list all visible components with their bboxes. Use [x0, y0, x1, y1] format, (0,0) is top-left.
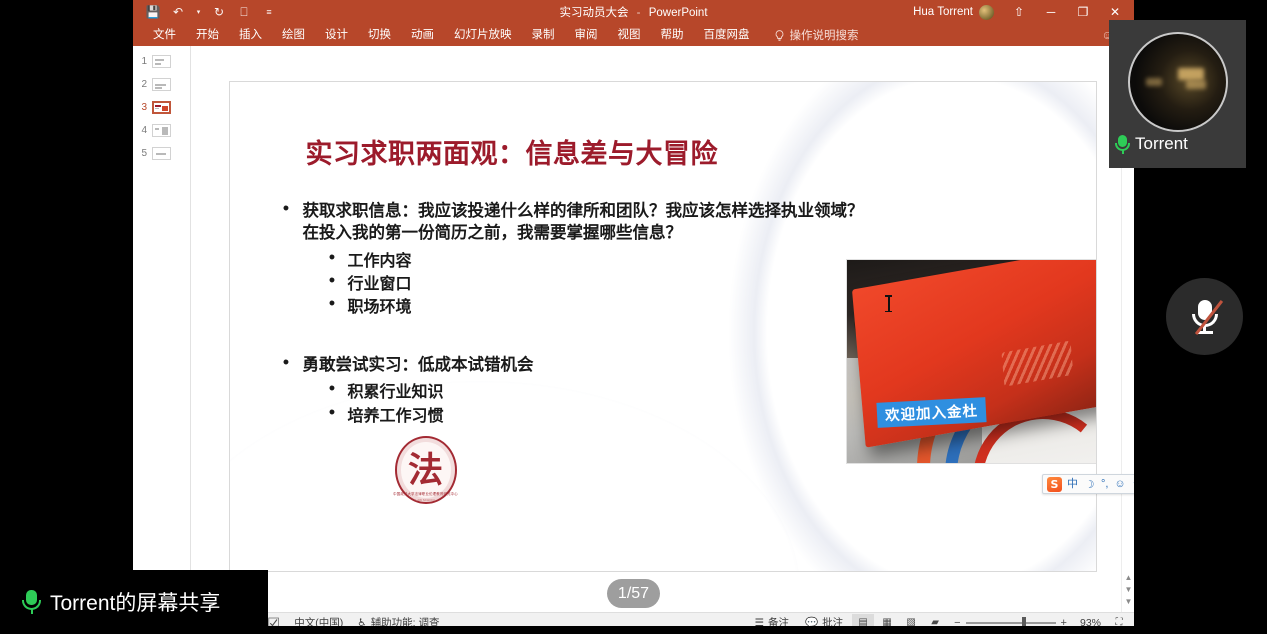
thumbnail-number: 5	[139, 148, 147, 159]
customize-qat-icon[interactable]: ≡	[261, 4, 277, 20]
ime-moon-icon[interactable]: ☽	[1083, 478, 1096, 491]
tab-slideshow[interactable]: 幻灯片放映	[444, 24, 522, 46]
start-presentation-icon[interactable]: ⎕	[236, 4, 252, 20]
bullet-marker: •	[328, 272, 337, 295]
title-bar-right: Hua Torrent ⇧ ─ ❐ ✕	[913, 0, 1134, 24]
bullet-marker: •	[328, 295, 337, 318]
thumbnail-preview	[152, 101, 171, 114]
tab-insert[interactable]: 插入	[229, 24, 272, 46]
seal-character: 法	[385, 432, 467, 508]
thumbnail-preview	[152, 55, 171, 68]
seal-text-bottom: LAW SCHOOL	[385, 498, 467, 502]
scroll-down-icon[interactable]: ▼	[1124, 597, 1133, 606]
lightbulb-icon	[774, 30, 785, 41]
bullet-marker: •	[328, 380, 337, 403]
microphone-icon	[1115, 135, 1130, 154]
sub-list-2: • 积累行业知识 • 培养工作习惯	[282, 380, 872, 426]
slide-thumbnail-pane[interactable]: 1 2 3	[133, 46, 191, 612]
thumbnail-preview	[152, 147, 171, 160]
thumbnail-number: 2	[139, 79, 147, 90]
slide-thumbnail-3[interactable]: 3	[133, 96, 190, 119]
editor-content: 1 2 3	[133, 46, 1134, 612]
screen-root: 💾 ↶ ▾ ↻ ⎕ ≡ 实习动员大会 - PowerPoint Hua Torr…	[0, 0, 1267, 634]
law-seal-logo[interactable]: 法 中国政法大学法律职业伦理教育研究中心 LAW SCHOOL	[385, 432, 467, 508]
ime-punctuation-icon[interactable]: °,	[1101, 479, 1108, 490]
sub-bullet-text: 积累行业知识	[347, 380, 443, 403]
sogou-ime-bar[interactable]: S 中 ☽ °, ☺ ⚒ T 简 ☰	[1042, 474, 1134, 494]
slide-thumbnail-1[interactable]: 1	[133, 50, 190, 73]
tab-draw[interactable]: 绘图	[272, 24, 315, 46]
tab-animations[interactable]: 动画	[401, 24, 444, 46]
paragraph-gap	[282, 318, 872, 354]
microphone-muted-icon	[1192, 300, 1218, 334]
zoom-track[interactable]	[966, 622, 1056, 624]
undo-icon[interactable]: ↶	[170, 4, 186, 20]
ribbon-display-options-icon[interactable]: ⇧	[1004, 0, 1034, 24]
tab-help[interactable]: 帮助	[651, 24, 694, 46]
save-icon[interactable]: 💾	[145, 4, 161, 20]
bullet-level1-2: • 勇敢尝试实习：低成本试错机会	[282, 354, 872, 376]
tab-view[interactable]: 视图	[608, 24, 651, 46]
sub-bullet-text: 行业窗口	[347, 272, 411, 295]
sub-bullet: • 培养工作习惯	[328, 404, 872, 427]
sub-bullet-text: 工作内容	[347, 249, 411, 272]
bottom-black-strip	[0, 626, 1267, 634]
tell-me-box[interactable]: 操作说明搜索	[760, 27, 859, 43]
camera-avatar	[1128, 32, 1228, 132]
bullet-marker: •	[282, 200, 291, 245]
bullet-marker: •	[282, 354, 291, 376]
ime-emoji-icon[interactable]: ☺	[1113, 478, 1126, 491]
slide-thumbnail-5[interactable]: 5	[133, 142, 190, 165]
page-indicator: 1/57	[607, 579, 660, 608]
sub-bullet-text: 职场环境	[347, 295, 411, 318]
ime-mode-chinese[interactable]: 中	[1067, 479, 1078, 490]
previous-slide-icon[interactable]: ▲	[1124, 573, 1133, 582]
bullet-marker: •	[328, 404, 337, 427]
document-name: 实习动员大会	[559, 7, 628, 19]
chevron-down-icon[interactable]: ▾	[195, 4, 202, 20]
tab-file[interactable]: 文件	[143, 24, 186, 46]
share-banner-label: Torrent的屏幕共享	[50, 587, 220, 617]
sub-bullet: • 行业窗口	[328, 272, 872, 295]
restore-icon[interactable]: ❐	[1068, 0, 1098, 24]
bullet-text: 获取求职信息：我应该投递什么样的律所和团队？我应该怎样选择执业领域？在投入我的第…	[302, 200, 871, 245]
photo-book-embossing	[1001, 341, 1073, 387]
thumbnail-preview	[152, 78, 171, 91]
bullet-marker: •	[328, 249, 337, 272]
sub-bullet: • 积累行业知识	[328, 380, 872, 403]
mute-microphone-button[interactable]	[1166, 278, 1243, 355]
ime-logo-icon[interactable]: S	[1047, 477, 1062, 492]
camera-label: Torrent	[1115, 134, 1188, 154]
left-black-gutter	[0, 0, 133, 570]
tell-me-label: 操作说明搜索	[790, 27, 859, 43]
tab-baidu-netdisk[interactable]: 百度网盘	[694, 24, 760, 46]
camera-tile[interactable]: Torrent	[1109, 20, 1246, 168]
bullet-text: 勇敢尝试实习：低成本试错机会	[302, 354, 533, 376]
text-cursor-icon	[885, 295, 892, 312]
powerpoint-window: 💾 ↶ ▾ ↻ ⎕ ≡ 实习动员大会 - PowerPoint Hua Torr…	[133, 0, 1134, 634]
thumbnail-number: 4	[139, 125, 147, 136]
sub-list-1: • 工作内容 • 行业窗口 • 职场环境	[282, 249, 872, 319]
thumbnail-number: 3	[139, 102, 147, 113]
ime-toolbox-icon[interactable]: ⚒	[1131, 478, 1134, 491]
bullet-level1-1: • 获取求职信息：我应该投递什么样的律所和团队？我应该怎样选择执业领域？在投入我…	[282, 200, 872, 245]
avatar[interactable]	[979, 5, 994, 20]
slide-image-notebook[interactable]: 欢迎加入金杜	[847, 260, 1096, 463]
tab-transitions[interactable]: 切换	[358, 24, 401, 46]
slide-thumbnail-4[interactable]: 4	[133, 119, 190, 142]
ribbon-tabs: 文件 开始 插入 绘图 设计 切换 动画 幻灯片放映 录制 审阅 视图 帮助 百…	[133, 24, 1134, 46]
app-name: PowerPoint	[649, 7, 708, 19]
slide-body[interactable]: • 获取求职信息：我应该投递什么样的律所和团队？我应该怎样选择执业领域？在投入我…	[282, 200, 872, 427]
redo-icon[interactable]: ↻	[211, 4, 227, 20]
account-name[interactable]: Hua Torrent	[913, 6, 977, 18]
seal-text-top: 中国政法大学法律职业伦理教育研究中心	[385, 491, 467, 496]
tab-home[interactable]: 开始	[186, 24, 229, 46]
sub-bullet: • 工作内容	[328, 249, 872, 272]
title-bar: 💾 ↶ ▾ ↻ ⎕ ≡ 实习动员大会 - PowerPoint Hua Torr…	[133, 0, 1134, 24]
sub-bullet: • 职场环境	[328, 295, 872, 318]
tab-record[interactable]: 录制	[522, 24, 565, 46]
sub-bullet-text: 培养工作习惯	[347, 404, 443, 427]
tab-review[interactable]: 审阅	[565, 24, 608, 46]
quick-access-toolbar: 💾 ↶ ▾ ↻ ⎕ ≡	[133, 4, 277, 20]
slide-title[interactable]: 实习求职两面观：信息差与大冒险	[306, 132, 719, 171]
microphone-icon	[22, 590, 41, 614]
screen-share-banner: Torrent的屏幕共享	[0, 570, 268, 634]
tab-design[interactable]: 设计	[315, 24, 358, 46]
title-separator: -	[632, 7, 646, 19]
slide-thumbnail-2[interactable]: 2	[133, 73, 190, 96]
slide-editing-pane: 实习求职两面观：信息差与大冒险 • 获取求职信息：我应该投递什么样的律所和团队？…	[191, 46, 1134, 612]
next-slide-icon[interactable]: ▼	[1124, 585, 1133, 594]
slide-canvas[interactable]: 实习求职两面观：信息差与大冒险 • 获取求职信息：我应该投递什么样的律所和团队？…	[230, 82, 1096, 571]
camera-participant-name: Torrent	[1135, 134, 1188, 154]
thumbnail-number: 1	[139, 56, 147, 67]
thumbnail-preview	[152, 124, 171, 137]
minimize-icon[interactable]: ─	[1036, 0, 1066, 24]
